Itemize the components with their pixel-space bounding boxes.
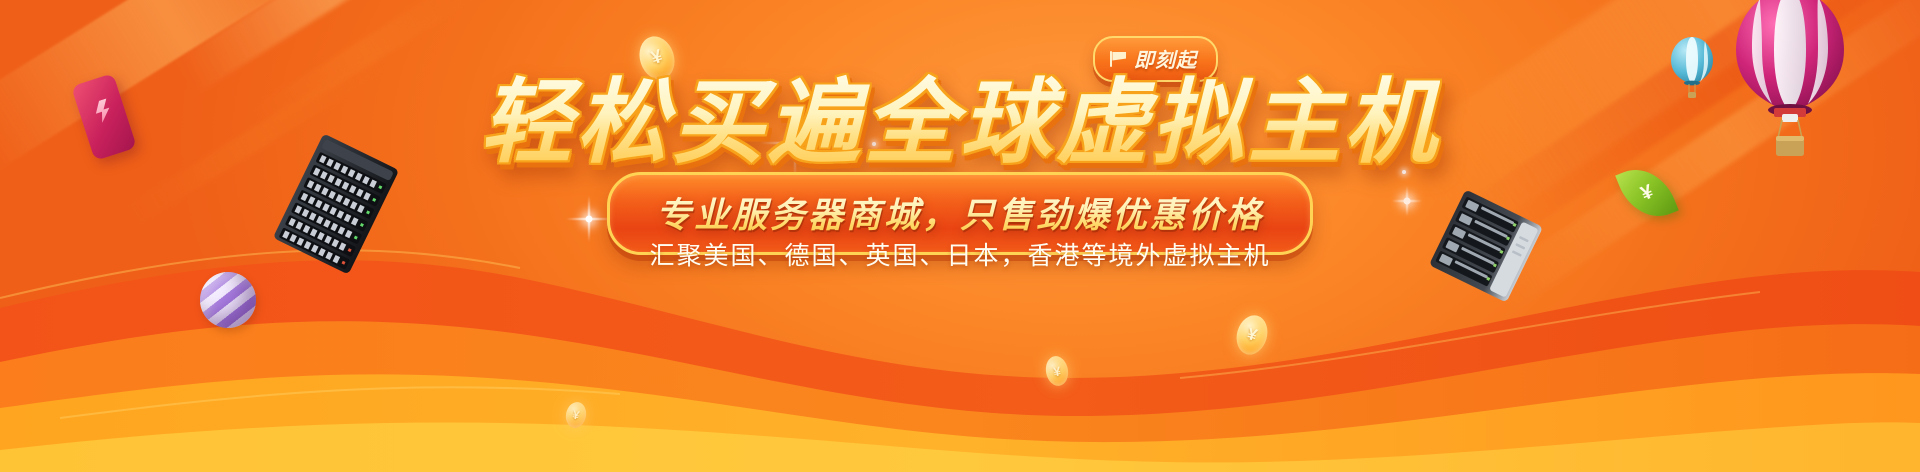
flag-icon	[1110, 51, 1127, 67]
headline-title: 轻松买遍全球虚拟主机	[480, 74, 1440, 173]
promo-banner: ¥ ¥ ¥ ¥ ¥	[0, 0, 1920, 472]
headline-container: 轻松买遍全球虚拟主机	[480, 74, 1440, 173]
subtitle-pill-text: 专业服务器商城，只售劲爆优惠价格	[656, 187, 1264, 238]
badge-label: 即刻起	[1134, 44, 1197, 73]
tagline-text: 汇聚美国、德国、英国、日本，香港等境外虚拟主机	[649, 236, 1270, 272]
banner-content: 即刻起 轻松买遍全球虚拟主机 专业服务器商城，只售劲爆优惠价格 汇聚美国、德国、…	[0, 0, 1920, 472]
